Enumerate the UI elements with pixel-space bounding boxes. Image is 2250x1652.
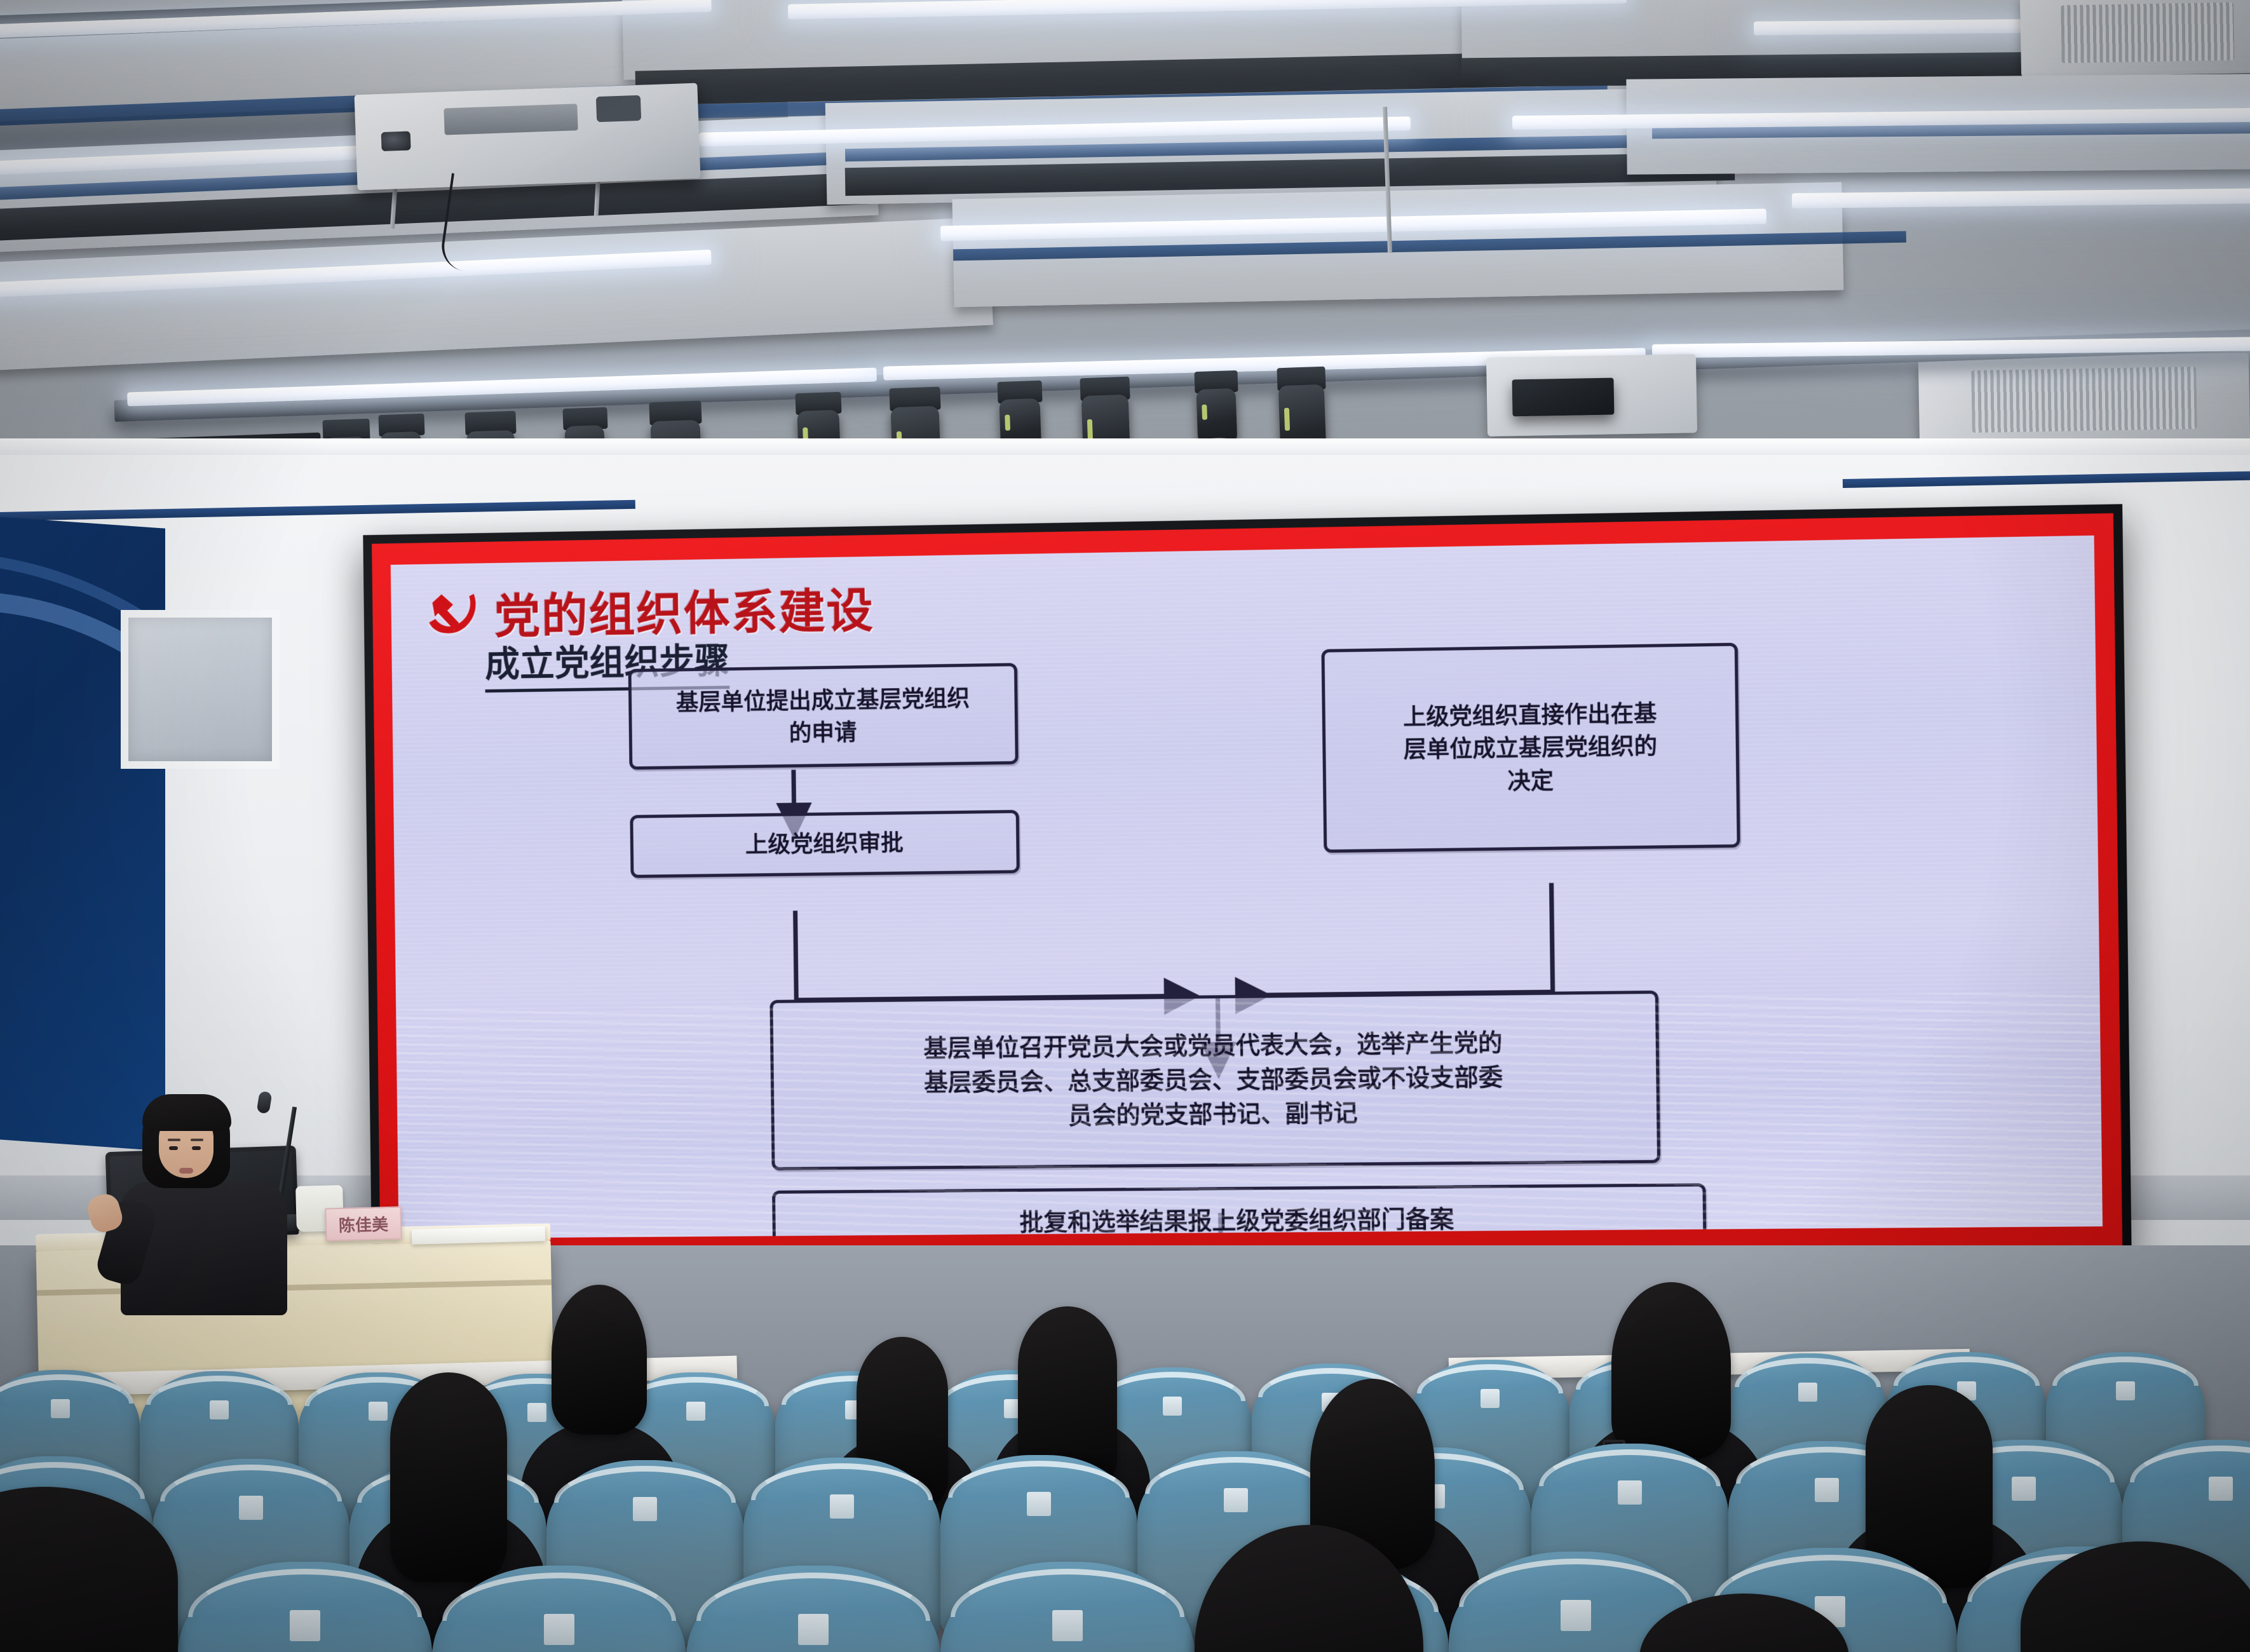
flow-node-n2-line1: 上级党组织审批 bbox=[745, 827, 904, 861]
speaker-name-card: 陈佳美 bbox=[325, 1206, 402, 1241]
air-conditioner-unit bbox=[2020, 0, 2250, 77]
flow-node-n4-line2: 基层委员会、总支部委员会、支部委员会或不设支部委 bbox=[924, 1064, 1503, 1097]
wall-graphic-panel: 息. 悬升 河区 bbox=[0, 501, 165, 1151]
lecture-hall-photo: 息. 悬升 河区 bbox=[0, 0, 2250, 1652]
flow-node-n1-line1: 基层单位提出成立基层党组织 bbox=[676, 685, 970, 715]
flow-node-n3: 上级党组织直接作出在基 层单位成立基层党组织的 决定 bbox=[1321, 643, 1740, 853]
audience-seating bbox=[0, 1296, 2250, 1652]
flow-node-n3-line3: 决定 bbox=[1507, 768, 1554, 794]
projector bbox=[355, 83, 701, 191]
speaker-mouth bbox=[179, 1168, 193, 1174]
flow-node-n3-line1: 上级党组织直接作出在基 bbox=[1403, 700, 1657, 730]
audience-head bbox=[1611, 1282, 1731, 1460]
flow-node-n1-line2: 的申请 bbox=[789, 719, 857, 746]
flow-node-n4-line1: 基层单位召开党员大会或党员代表大会，选举产生党的 bbox=[923, 1030, 1502, 1062]
speaker-eye bbox=[169, 1146, 178, 1150]
air-conditioner-unit bbox=[1918, 353, 2250, 447]
flow-node-n1: 基层单位提出成立基层党组织 的申请 bbox=[628, 663, 1019, 769]
flow-node-n2: 上级党组织审批 bbox=[630, 810, 1019, 878]
flowchart: 基层单位提出成立基层党组织 的申请 上级党组织审批 上级党组织直接作出在基 层单… bbox=[391, 536, 2103, 1239]
wall-access-panel bbox=[121, 610, 280, 769]
flow-node-n5: 批复和选举结果报上级党委组织部门备案 bbox=[772, 1183, 1707, 1238]
flow-node-n4-line3: 员会的党支部书记、副书记 bbox=[1068, 1100, 1358, 1129]
presentation-slide: 党的组织体系建设 成立党组织步骤 bbox=[391, 536, 2103, 1239]
speaker-eye bbox=[192, 1146, 201, 1150]
flow-node-n5-line1: 批复和选举结果报上级党委组织部门备案 bbox=[1019, 1203, 1454, 1238]
led-display-screen: 党的组织体系建设 成立党组织步骤 bbox=[363, 504, 2131, 1269]
flow-node-n3-line2: 层单位成立基层党组织的 bbox=[1404, 733, 1658, 763]
flow-node-n4: 基层单位召开党员大会或党员代表大会，选举产生党的 基层委员会、总支部委员会、支部… bbox=[769, 991, 1660, 1170]
audience-head bbox=[390, 1372, 507, 1582]
screen-red-frame: 党的组织体系建设 成立党组织步骤 bbox=[372, 513, 2122, 1261]
audience-head bbox=[552, 1285, 647, 1435]
